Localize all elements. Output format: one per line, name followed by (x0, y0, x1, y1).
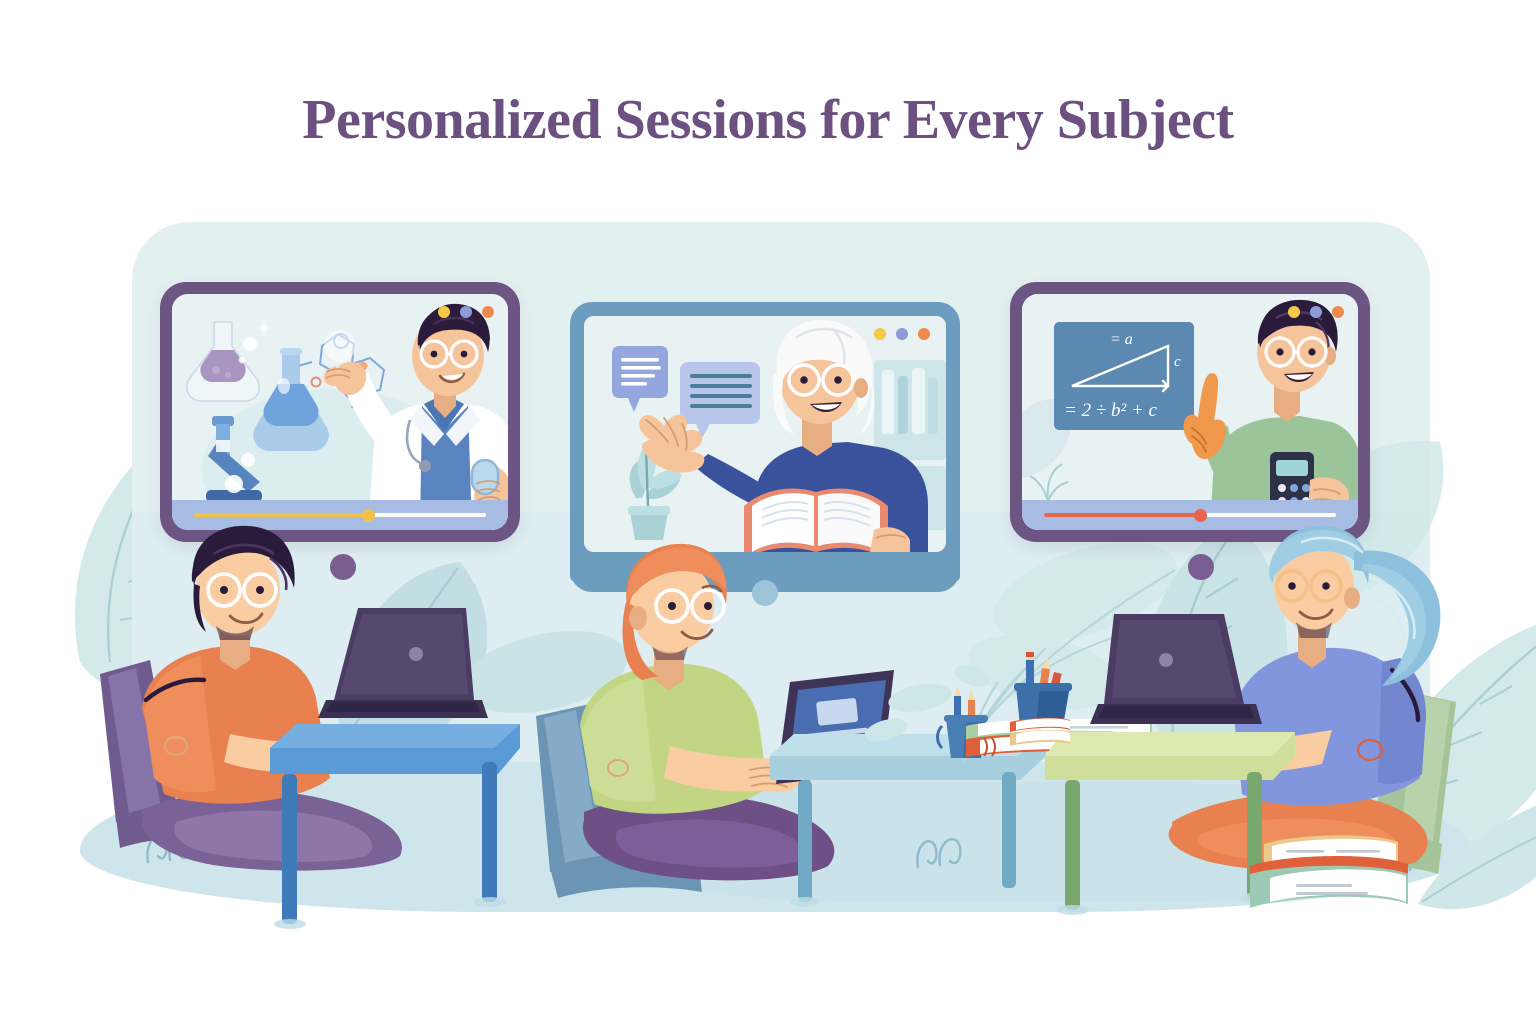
window-dot-yellow-icon (874, 328, 886, 340)
window-dot-purple-icon (896, 328, 908, 340)
book-stack-floor (1250, 822, 1410, 932)
literature-lesson-art (584, 316, 946, 552)
screen-science[interactable] (160, 282, 520, 542)
window-dots-math (1288, 306, 1344, 318)
svg-text:= 2 ÷ b² + c: = 2 ÷ b² + c (1064, 400, 1158, 421)
science-lesson-art (172, 294, 508, 530)
window-dot-yellow-icon (438, 306, 450, 318)
progress-knob-science[interactable] (362, 509, 375, 522)
laptop-left[interactable] (314, 592, 494, 732)
window-dot-yellow-icon (1288, 306, 1300, 318)
screen-math[interactable]: = a c = 2 ÷ b² + c (1010, 282, 1370, 542)
math-lesson-art: = a c = 2 ÷ b² + c (1022, 294, 1358, 530)
window-dot-orange-icon (482, 306, 494, 318)
scene: = a c = 2 ÷ b² + c (70, 222, 1470, 902)
progress-fill-math (1044, 513, 1202, 517)
chalkboard: = a c = 2 ÷ b² + c (1054, 322, 1194, 430)
window-dot-orange-icon (1332, 306, 1344, 318)
window-dots-science (438, 306, 494, 318)
screen-science-display (172, 294, 508, 530)
window-dot-purple-icon (1310, 306, 1322, 318)
window-dot-purple-icon (460, 306, 472, 318)
progress-knob-math[interactable] (1194, 509, 1207, 522)
screen-math-display: = a c = 2 ÷ b² + c (1022, 294, 1358, 530)
svg-text:= a: = a (1110, 331, 1133, 348)
svg-text:c: c (1174, 354, 1181, 370)
window-dot-orange-icon (918, 328, 930, 340)
page-title: Personalized Sessions for Every Subject (0, 88, 1536, 152)
book-stack-small (1010, 708, 1070, 758)
progress-fill-science (194, 513, 368, 517)
laptop-right[interactable] (1088, 600, 1268, 740)
illustration-canvas: Personalized Sessions for Every Subject (0, 0, 1536, 1024)
screen-literature-display (584, 316, 946, 552)
window-dots-literature (874, 328, 930, 340)
